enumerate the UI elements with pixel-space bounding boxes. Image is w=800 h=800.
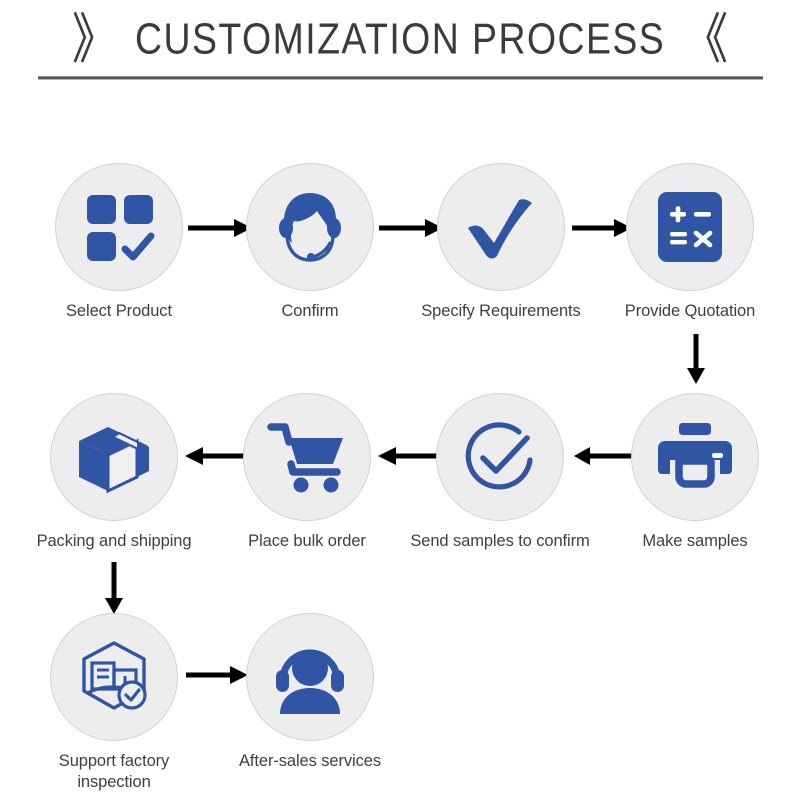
grid-check-icon	[81, 189, 157, 265]
headset-agent-icon	[270, 187, 350, 267]
step-icon-circle	[50, 393, 178, 521]
step-label: Packing and shipping	[9, 531, 219, 552]
arrow-down-r1-r2	[683, 334, 709, 384]
arrow-down-r2-r3	[101, 562, 127, 614]
step-icon-circle	[50, 613, 178, 741]
step-icon-circle	[626, 163, 754, 291]
step-label: After-sales services	[205, 751, 415, 772]
double-chevron-left-icon: 《	[682, 12, 728, 66]
step-label: Send samples to confirm	[395, 531, 605, 552]
step-icon-circle	[246, 613, 374, 741]
customization-process-infographic: 》 CUSTOMIZATION PROCESS 《 Select Product	[0, 0, 800, 800]
step-place-bulk-order[interactable]: Place bulk order	[212, 393, 402, 552]
checkmark-icon	[462, 188, 540, 266]
support-person-icon	[270, 640, 350, 714]
step-icon-circle	[55, 163, 183, 291]
double-chevron-right-icon: 》	[72, 12, 118, 66]
step-confirm[interactable]: Confirm	[215, 163, 405, 322]
step-provide-quotation[interactable]: Provide Quotation	[595, 163, 785, 322]
step-label: Place bulk order	[202, 531, 412, 552]
step-icon-circle	[631, 393, 759, 521]
step-packing-and-shipping[interactable]: Packing and shipping	[19, 393, 209, 552]
step-icon-circle	[243, 393, 371, 521]
step-icon-circle	[246, 163, 374, 291]
step-label: Make samples	[590, 531, 800, 552]
step-label: Select Product	[14, 301, 224, 322]
step-label: Confirm	[205, 301, 415, 322]
page-header: 》 CUSTOMIZATION PROCESS 《	[0, 8, 800, 70]
step-label: Specify Requirements	[396, 301, 606, 322]
printer-icon	[657, 421, 733, 493]
step-after-sales-services[interactable]: After-sales services	[215, 613, 405, 772]
step-label: Provide Quotation	[585, 301, 795, 322]
step-make-samples[interactable]: Make samples	[600, 393, 790, 552]
step-send-samples-to-confirm[interactable]: Send samples to confirm	[405, 393, 595, 552]
step-label: Support factory inspection	[9, 751, 219, 793]
step-icon-circle	[437, 163, 565, 291]
factory-shield-check-icon	[75, 638, 153, 716]
step-specify-requirements[interactable]: Specify Requirements	[406, 163, 596, 322]
calculator-icon	[654, 188, 726, 266]
shopping-cart-icon	[267, 420, 347, 494]
step-select-product[interactable]: Select Product	[24, 163, 214, 322]
step-icon-circle	[436, 393, 564, 521]
page-title: CUSTOMIZATION PROCESS	[135, 17, 665, 61]
header-divider	[38, 76, 763, 80]
step-support-factory-inspection[interactable]: Support factory inspection	[19, 613, 209, 793]
check-circle-icon	[461, 418, 539, 496]
package-box-icon	[74, 419, 154, 495]
